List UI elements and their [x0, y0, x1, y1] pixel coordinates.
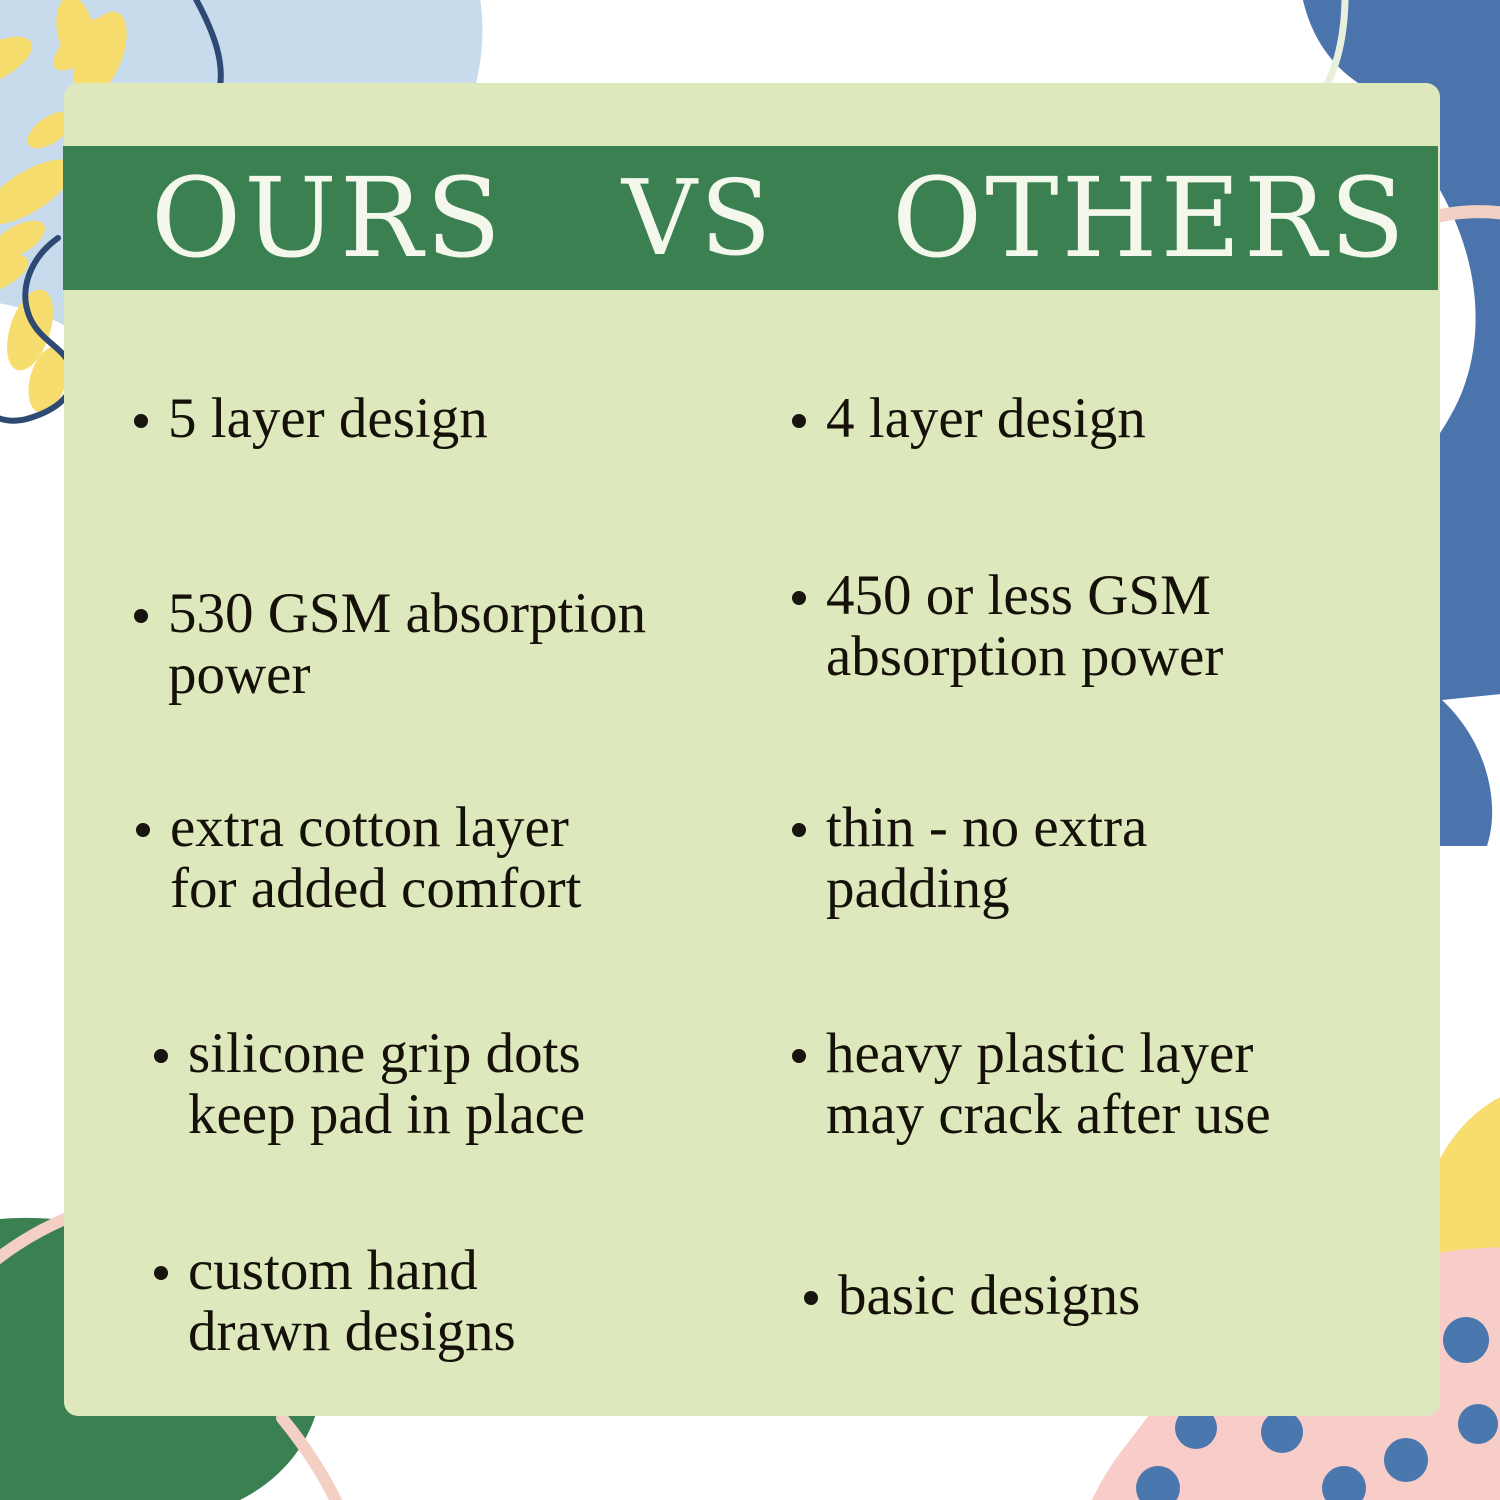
- yellow-petal-4-icon: [51, 0, 98, 67]
- polka-dot-icon: [1458, 1404, 1498, 1444]
- polka-dot-icon: [1136, 1466, 1180, 1500]
- bullet-dot-icon: [136, 823, 150, 837]
- list-item: thin - no extra padding: [792, 797, 1392, 919]
- polka-dot-icon: [1261, 1411, 1303, 1453]
- others-column: 4 layer design 450 or less GSM absorptio…: [752, 300, 1440, 1416]
- ours-column: 5 layer design 530 GSM absorption power …: [64, 300, 752, 1416]
- polka-dot-icon: [1384, 1438, 1428, 1482]
- comparison-header-band: OURS VS OTHERS: [63, 146, 1438, 290]
- bullet-dot-icon: [134, 609, 148, 623]
- bullet-dot-icon: [804, 1291, 818, 1305]
- bullet-dot-icon: [792, 1049, 806, 1063]
- infographic-canvas: OURS VS OTHERS 5 layer design 530 GSM ab…: [0, 0, 1500, 1500]
- others-bullet-text: thin - no extra padding: [826, 797, 1147, 919]
- yellow-petal-9-icon: [0, 246, 34, 304]
- ours-bullet-text: silicone grip dots keep pad in place: [188, 1023, 585, 1145]
- bullet-dot-icon: [792, 414, 806, 428]
- header-title-ours: OURS: [151, 163, 504, 273]
- header-vs-label: VS: [622, 166, 774, 270]
- yellow-petal-1-icon: [0, 26, 40, 97]
- list-item: silicone grip dots keep pad in place: [154, 1023, 794, 1145]
- bullet-dot-icon: [154, 1266, 168, 1280]
- mint-line-top-right-icon: [1326, 0, 1345, 86]
- ours-bullet-text: 5 layer design: [168, 388, 488, 449]
- yellow-petal-7-icon: [0, 213, 51, 267]
- ours-bullet-text: 530 GSM absorption power: [168, 583, 646, 705]
- comparison-columns: 5 layer design 530 GSM absorption power …: [64, 300, 1440, 1416]
- list-item: 5 layer design: [134, 388, 774, 449]
- navy-squiggle-left-icon: [0, 238, 73, 421]
- ours-bullet-text: custom hand drawn designs: [188, 1240, 516, 1362]
- header-row: OURS VS OTHERS: [63, 163, 1438, 273]
- list-item: basic designs: [804, 1265, 1404, 1326]
- bullet-dot-icon: [134, 414, 148, 428]
- ours-bullet-text: extra cotton layer for added comfort: [170, 797, 582, 919]
- others-bullet-text: 450 or less GSM absorption power: [826, 565, 1223, 687]
- header-title-others: OTHERS: [892, 163, 1408, 273]
- white-gap-right-icon: [1442, 690, 1500, 900]
- others-bullet-text: basic designs: [838, 1265, 1140, 1326]
- list-item: 450 or less GSM absorption power: [792, 565, 1412, 687]
- bullet-dot-icon: [792, 823, 806, 837]
- list-item: 530 GSM absorption power: [134, 583, 794, 705]
- polka-dot-icon: [1443, 1317, 1489, 1363]
- list-item: custom hand drawn designs: [154, 1240, 774, 1362]
- list-item: 4 layer design: [792, 388, 1412, 449]
- polka-dot-icon: [1322, 1466, 1366, 1500]
- pink-line-bottom-left-2-icon: [282, 1418, 340, 1500]
- yellow-petal-8-icon: [0, 284, 62, 376]
- bullet-dot-icon: [792, 591, 806, 605]
- list-item: extra cotton layer for added comfort: [136, 797, 776, 919]
- bullet-dot-icon: [154, 1049, 168, 1063]
- yellow-petal-11-icon: [45, 9, 119, 79]
- list-item: heavy plastic layer may crack after use: [792, 1023, 1432, 1145]
- others-bullet-text: heavy plastic layer may crack after use: [826, 1023, 1271, 1145]
- others-bullet-text: 4 layer design: [826, 388, 1146, 449]
